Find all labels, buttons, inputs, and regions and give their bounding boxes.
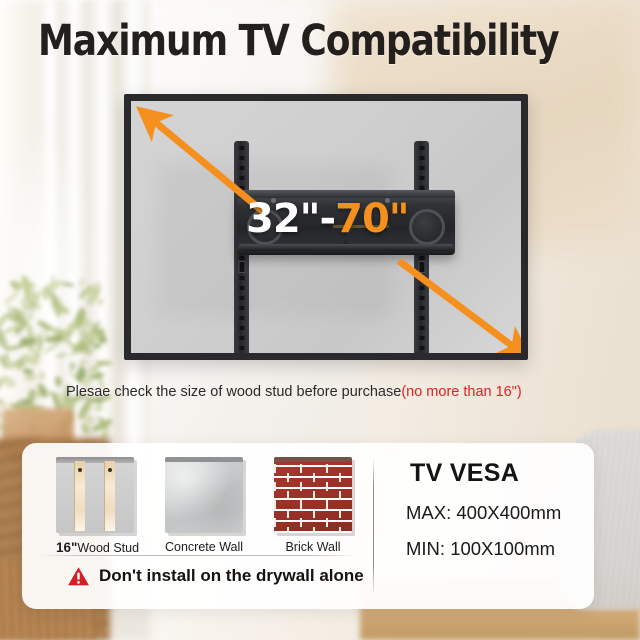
wood-stud-swatch-icon [56,457,134,533]
wall-type-concrete[interactable]: Concrete Wall [165,457,243,554]
wall-type-swatches: 16"Wood Stud Concrete Wall Brick Wall [38,457,364,555]
tv-size-range-label: 32"-70" [246,196,409,242]
vesa-spec-panel: TV VESA MAX: 400X400mm MIN: 100X100mm [400,459,600,560]
brick-mortar-seam [326,464,328,473]
plant-leaf [56,353,67,358]
brick-row [274,500,352,509]
plate-pivot-right [409,209,445,245]
wall-type-label-wood-text: Wood Stud [77,541,139,555]
brick-mortar-seam [274,518,276,527]
brick-mortar-seam [326,482,328,491]
plant-leaf [62,281,74,287]
wood-stud-note-warning: (no more than 16") [401,384,521,400]
brick-mortar-seam [274,500,276,509]
plant-leaf [25,373,38,383]
wood-stud-note: Plesae check the size of wood stud befor… [66,384,522,400]
brick-mortar-seam [339,509,341,518]
brick-row [274,518,352,527]
warning-triangle-icon [66,565,91,587]
brick-row [274,482,352,491]
brick-mortar-seam [300,464,302,473]
brick-mortar-seam [313,509,315,518]
brick-mortar-seam [300,500,302,509]
stud-left [74,461,85,531]
brick-wall-swatch-icon [274,457,352,533]
brick-mortar-seam [287,509,289,518]
plant-leaf [43,342,60,354]
plant-leaf [53,376,62,386]
size-max-text: 70" [335,196,409,242]
plant-leaf [78,359,87,367]
brick-mortar-seam [339,491,341,500]
brick-mortar-seam [313,527,315,533]
wood-stud-note-main: Plesae check the size of wood stud befor… [66,384,401,400]
brick-mortar-seam [274,464,276,473]
stud-screw-hole-left [78,468,82,472]
card-horizontal-divider [38,555,358,556]
brick-row [274,509,352,518]
card-vertical-divider [373,457,374,595]
plant-leaf [96,298,104,305]
vesa-max-value: MAX: 400X400mm [406,502,600,524]
wall-type-label-concrete: Concrete Wall [165,540,243,554]
wall-type-wood-stud[interactable]: 16"Wood Stud [56,457,134,555]
brick-mortar-seam [313,491,315,500]
wall-type-label-wood: 16"Wood Stud [56,540,134,555]
plant-leaf [3,289,22,305]
plant-leaf [95,407,104,411]
page-title: Maximum TV Compatibility [38,16,559,66]
plant-leaf [67,361,77,371]
brick-mortar-seam [339,473,341,482]
brick-mortar-seam [287,473,289,482]
plant-leaf [37,371,46,381]
rail-slot-left [238,261,245,273]
brick-row [274,527,352,533]
brick-mortar-seam [326,500,328,509]
wall-type-label-brick: Brick Wall [274,540,352,554]
plate-bottom-bar [239,244,453,251]
vesa-min-value: MIN: 100X100mm [406,538,600,560]
stud-right [104,461,115,531]
plant-leaf [93,342,102,350]
plant-leaf [35,334,43,351]
wall-type-label-wood-size: 16" [56,540,77,555]
drywall-warning-text: Don't install on the drywall alone [99,566,364,586]
drywall-warning-banner: Don't install on the drywall alone [66,565,364,587]
infographic-canvas: Maximum TV Compatibility [0,0,640,640]
brick-mortar-seam [339,527,341,533]
brick-row [274,473,352,482]
brick-mortar-seam [300,482,302,491]
brick-mortar-seam [287,527,289,533]
concrete-wall-swatch-icon [165,457,243,533]
brick-mortar-seam [326,518,328,527]
brick-mortar-seam [287,491,289,500]
brick-mortar-seam [300,518,302,527]
size-min-text: 32"- [246,196,335,242]
vesa-title: TV VESA [410,459,600,488]
brick-row [274,464,352,473]
brick-mortar-seam [313,473,315,482]
stud-screw-hole-right [108,468,112,472]
bottom-info-card: 16"Wood Stud Concrete Wall Brick Wall Do… [22,443,594,609]
rail-slot-right [418,261,425,273]
brick-row [274,491,352,500]
brick-mortar-seam [274,482,276,491]
wood-swatch-top-edge [56,457,134,463]
wall-type-brick[interactable]: Brick Wall [274,457,352,554]
